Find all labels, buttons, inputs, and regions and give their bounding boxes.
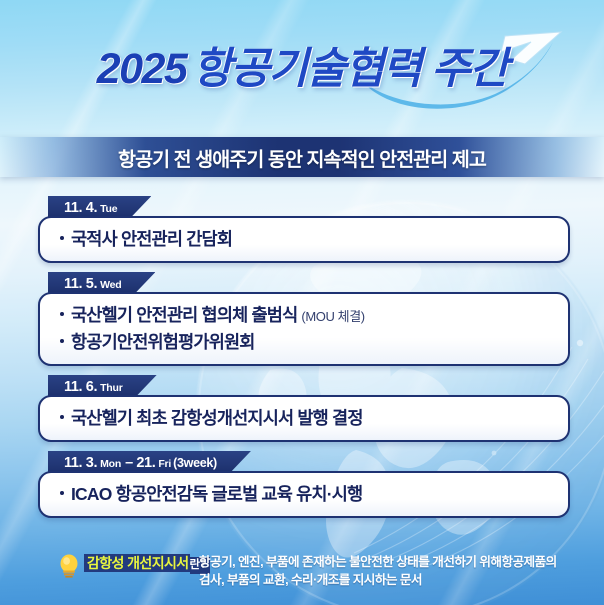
date-duration: (3week) <box>173 456 217 470</box>
date-dow: Thur <box>100 382 123 394</box>
event-item: 국산헬기 안전관리 협의체 출범식(MOU 체결) <box>60 303 554 329</box>
event-item: 국산헬기 최초 감항성개선지시서 발행 결정 <box>60 406 554 431</box>
date-dow: Wed <box>100 279 121 291</box>
footer-term-highlight: 감항성 개선지시서 <box>84 554 190 572</box>
footer-description: 항공기, 엔진, 부품에 존재하는 불안전한 상태를 개선하기 위해항공제품의 … <box>199 553 599 589</box>
bullet-icon <box>60 491 64 495</box>
event-text: 국적사 안전관리 간담회 <box>71 229 232 249</box>
schedule-section: 11. 3.Mon– 21.Fri(3week) ICAO 항공안전감독 글로벌… <box>0 451 604 518</box>
schedule-section: 11. 6.Thur 국산헬기 최초 감항성개선지시서 발행 결정 <box>0 375 604 442</box>
event-item: 항공기안전위험평가위원회 <box>60 330 554 355</box>
title-main: 항공기술협력 주간 <box>192 45 507 93</box>
event-note: (MOU 체결) <box>301 309 364 324</box>
subtitle-text: 항공기 전 생애주기 동안 지속적인 안전관리 제고 <box>118 143 486 172</box>
lightbulb-icon <box>58 553 80 579</box>
title-block: 2025항공기술협력 주간 <box>0 34 604 116</box>
date-main: 11. 5. <box>64 276 97 292</box>
date-main: 11. 3. <box>64 455 97 471</box>
date-dow: Tue <box>100 203 117 215</box>
event-card[interactable]: 국산헬기 안전관리 협의체 출범식(MOU 체결) 항공기안전위험평가위원회 <box>38 292 570 366</box>
event-text: 국산헬기 최초 감항성개선지시서 발행 결정 <box>71 408 363 428</box>
event-item: ICAO 항공안전감독 글로벌 교육 유치·시행 <box>60 482 554 507</box>
event-item: 국적사 안전관리 간담회 <box>60 227 554 252</box>
date-main: 11. 6. <box>64 379 97 395</box>
title-year: 2025 <box>97 45 187 93</box>
date-dow-end: Fri <box>158 458 171 470</box>
footer-desc-line1: 항공기, 엔진, 부품에 존재하는 불안전한 상태를 개선하기 위해항공제품의 <box>199 553 599 571</box>
schedule-list: 11. 4.Tue 국적사 안전관리 간담회 11. 5.Wed 국산헬기 안전… <box>0 196 604 527</box>
bullet-icon <box>60 236 64 240</box>
event-text: ICAO 항공안전감독 글로벌 교육 유치·시행 <box>71 484 362 504</box>
event-text: 항공기안전위험평가위원회 <box>71 332 255 352</box>
event-card[interactable]: 국산헬기 최초 감항성개선지시서 발행 결정 <box>38 395 570 442</box>
date-range: – 21. <box>125 455 155 471</box>
date-main: 11. 4. <box>64 200 97 216</box>
subtitle-banner: 항공기 전 생애주기 동안 지속적인 안전관리 제고 <box>0 137 604 177</box>
event-card[interactable]: 국적사 안전관리 간담회 <box>38 216 570 263</box>
bullet-icon <box>60 415 64 419</box>
footer-note: 감항성 개선지시서란? 항공기, 엔진, 부품에 존재하는 불안전한 상태를 개… <box>0 543 604 605</box>
page-title: 2025항공기술협력 주간 <box>97 34 508 104</box>
footer-term: 감항성 개선지시서란? <box>84 555 210 572</box>
schedule-section: 11. 5.Wed 국산헬기 안전관리 협의체 출범식(MOU 체결) 항공기안… <box>0 272 604 366</box>
bullet-icon <box>60 339 64 343</box>
event-card[interactable]: ICAO 항공안전감독 글로벌 교육 유치·시행 <box>38 471 570 518</box>
schedule-section: 11. 4.Tue 국적사 안전관리 간담회 <box>0 196 604 263</box>
date-dow: Mon <box>100 458 121 470</box>
event-text: 국산헬기 안전관리 협의체 출범식 <box>71 305 297 325</box>
bullet-icon <box>60 312 64 316</box>
poster-root: 2025항공기술협력 주간 항공기 전 생애주기 동안 지속적인 안전관리 제고… <box>0 0 604 605</box>
footer-desc-line2: 검사, 부품의 교환, 수리·개조를 지시하는 문서 <box>199 571 599 589</box>
